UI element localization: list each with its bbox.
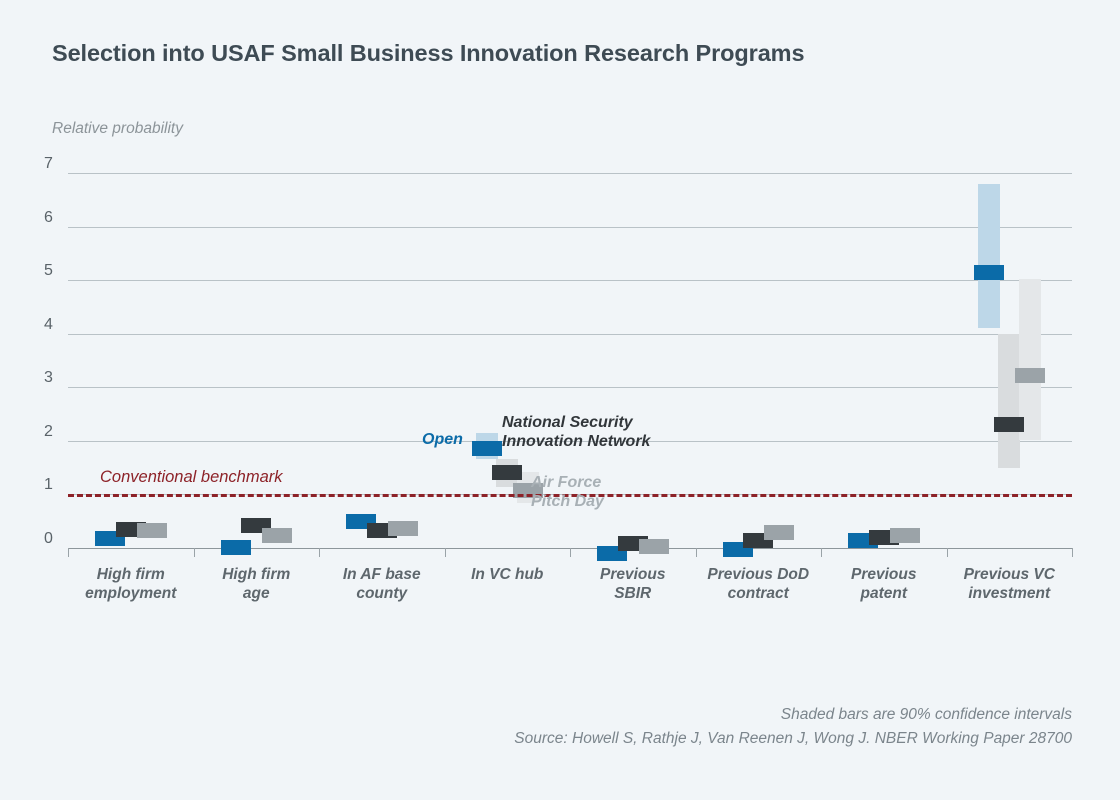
- series-annotation-nsin-line: National Security: [502, 414, 650, 433]
- y-tick-label-0: 0: [44, 530, 64, 548]
- x-category-label-line: Previous VC: [930, 566, 1090, 585]
- data-point-marker[interactable]: [472, 441, 502, 456]
- series-annotation-afpd-line: Pitch Day: [531, 493, 604, 512]
- series-annotation-afpd: Air ForcePitch Day: [531, 474, 604, 512]
- footer-note: Shaded bars are 90% confidence intervals: [781, 706, 1072, 724]
- y-tick-label-3: 3: [44, 369, 64, 387]
- x-axis-tick: [319, 548, 320, 557]
- data-point-marker[interactable]: [221, 540, 251, 555]
- series-annotation-nsin: National SecurityInnovation Network: [502, 414, 650, 452]
- data-point-marker[interactable]: [1015, 368, 1045, 383]
- series-annotation-afpd-line: Air Force: [531, 474, 604, 493]
- gridline-6: [68, 227, 1072, 228]
- confidence-interval-bar: [1019, 279, 1041, 440]
- series-annotation-open-line: Open: [422, 431, 463, 450]
- x-axis-tick: [696, 548, 697, 557]
- x-axis-tick: [947, 548, 948, 557]
- data-point-marker[interactable]: [890, 528, 920, 543]
- page-title: Selection into USAF Small Business Innov…: [52, 40, 804, 67]
- confidence-interval-bar: [998, 334, 1020, 468]
- x-axis-tick: [68, 548, 69, 557]
- data-point-marker[interactable]: [974, 265, 1004, 280]
- data-point-marker[interactable]: [764, 525, 794, 540]
- confidence-interval-bar: [978, 184, 1000, 329]
- x-category-label-line: county: [302, 585, 462, 604]
- y-tick-label-2: 2: [44, 423, 64, 441]
- y-tick-label-7: 7: [44, 155, 64, 173]
- x-axis-tick: [194, 548, 195, 557]
- series-annotation-nsin-line: Innovation Network: [502, 433, 650, 452]
- y-tick-label-6: 6: [44, 209, 64, 227]
- y-tick-label-1: 1: [44, 476, 64, 494]
- x-category-label-7: Previous VCinvestment: [930, 566, 1090, 604]
- data-point-marker[interactable]: [388, 521, 418, 536]
- y-tick-label-4: 4: [44, 316, 64, 334]
- data-point-marker[interactable]: [492, 465, 522, 480]
- x-axis-tick: [1072, 548, 1073, 557]
- gridline-7: [68, 173, 1072, 174]
- series-annotation-open: Open: [422, 431, 463, 450]
- data-point-marker[interactable]: [994, 417, 1024, 432]
- x-axis-tick: [445, 548, 446, 557]
- x-axis-tick: [821, 548, 822, 557]
- data-point-marker[interactable]: [262, 528, 292, 543]
- footer-source: Source: Howell S, Rathje J, Van Reenen J…: [514, 730, 1072, 748]
- data-point-marker[interactable]: [639, 539, 669, 554]
- conventional-benchmark-label: Conventional benchmark: [100, 468, 283, 487]
- gridline-4: [68, 334, 1072, 335]
- gridline-3: [68, 387, 1072, 388]
- gridline-5: [68, 280, 1072, 281]
- chart-page: Selection into USAF Small Business Innov…: [0, 0, 1120, 800]
- x-axis-tick: [570, 548, 571, 557]
- x-category-label-line: investment: [930, 585, 1090, 604]
- y-axis-label: Relative probability: [52, 120, 183, 138]
- data-point-marker[interactable]: [137, 523, 167, 538]
- y-tick-label-5: 5: [44, 262, 64, 280]
